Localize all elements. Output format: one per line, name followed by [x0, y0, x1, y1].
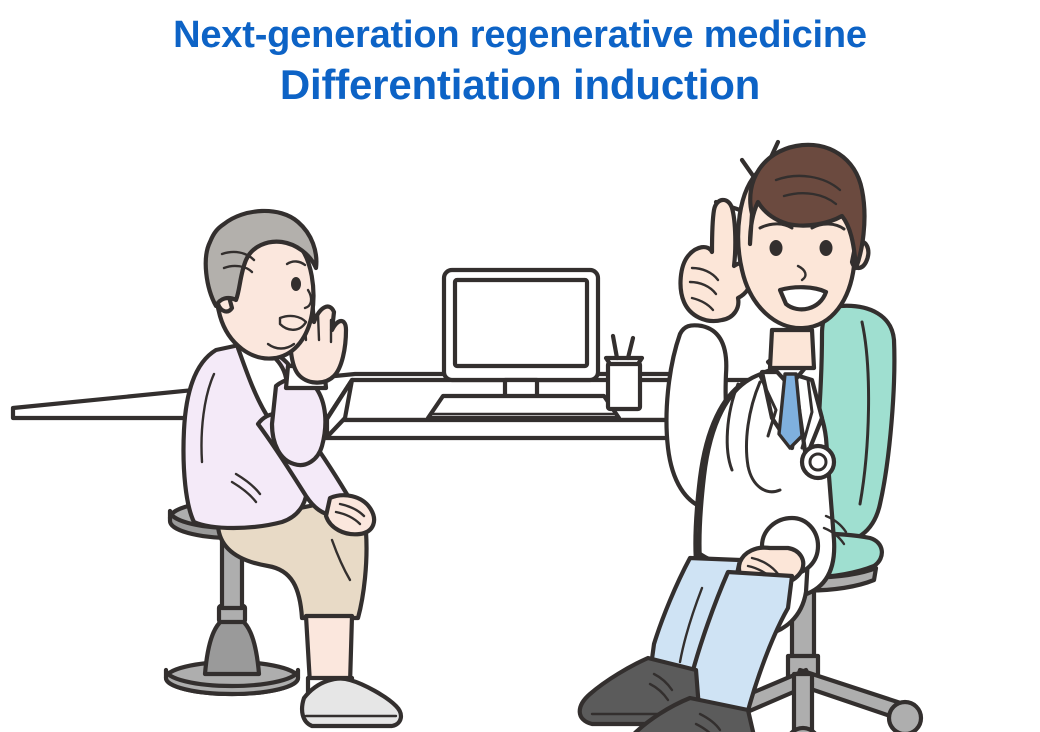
title-block: Next-generation regenerative medicine Di… [0, 14, 1040, 108]
page-title-line-2: Differentiation induction [0, 61, 1040, 108]
page-title-line-1: Next-generation regenerative medicine [0, 14, 1040, 57]
pen-cup [606, 336, 642, 409]
monitor-screen [455, 280, 587, 366]
scene-illustration: .ln { fill:none; stroke:#332f2e; stroke-… [0, 118, 1040, 732]
illustration-slide: Next-generation regenerative medicine Di… [0, 0, 1040, 732]
patient-figure [166, 211, 401, 726]
chair-caster [787, 728, 819, 732]
scene-svg: .ln { fill:none; stroke:#332f2e; stroke-… [0, 118, 1040, 732]
patient-raised-sleeve [272, 379, 325, 465]
keyboard [428, 396, 619, 418]
doctor-tie [779, 374, 802, 448]
chair-caster [889, 702, 921, 732]
